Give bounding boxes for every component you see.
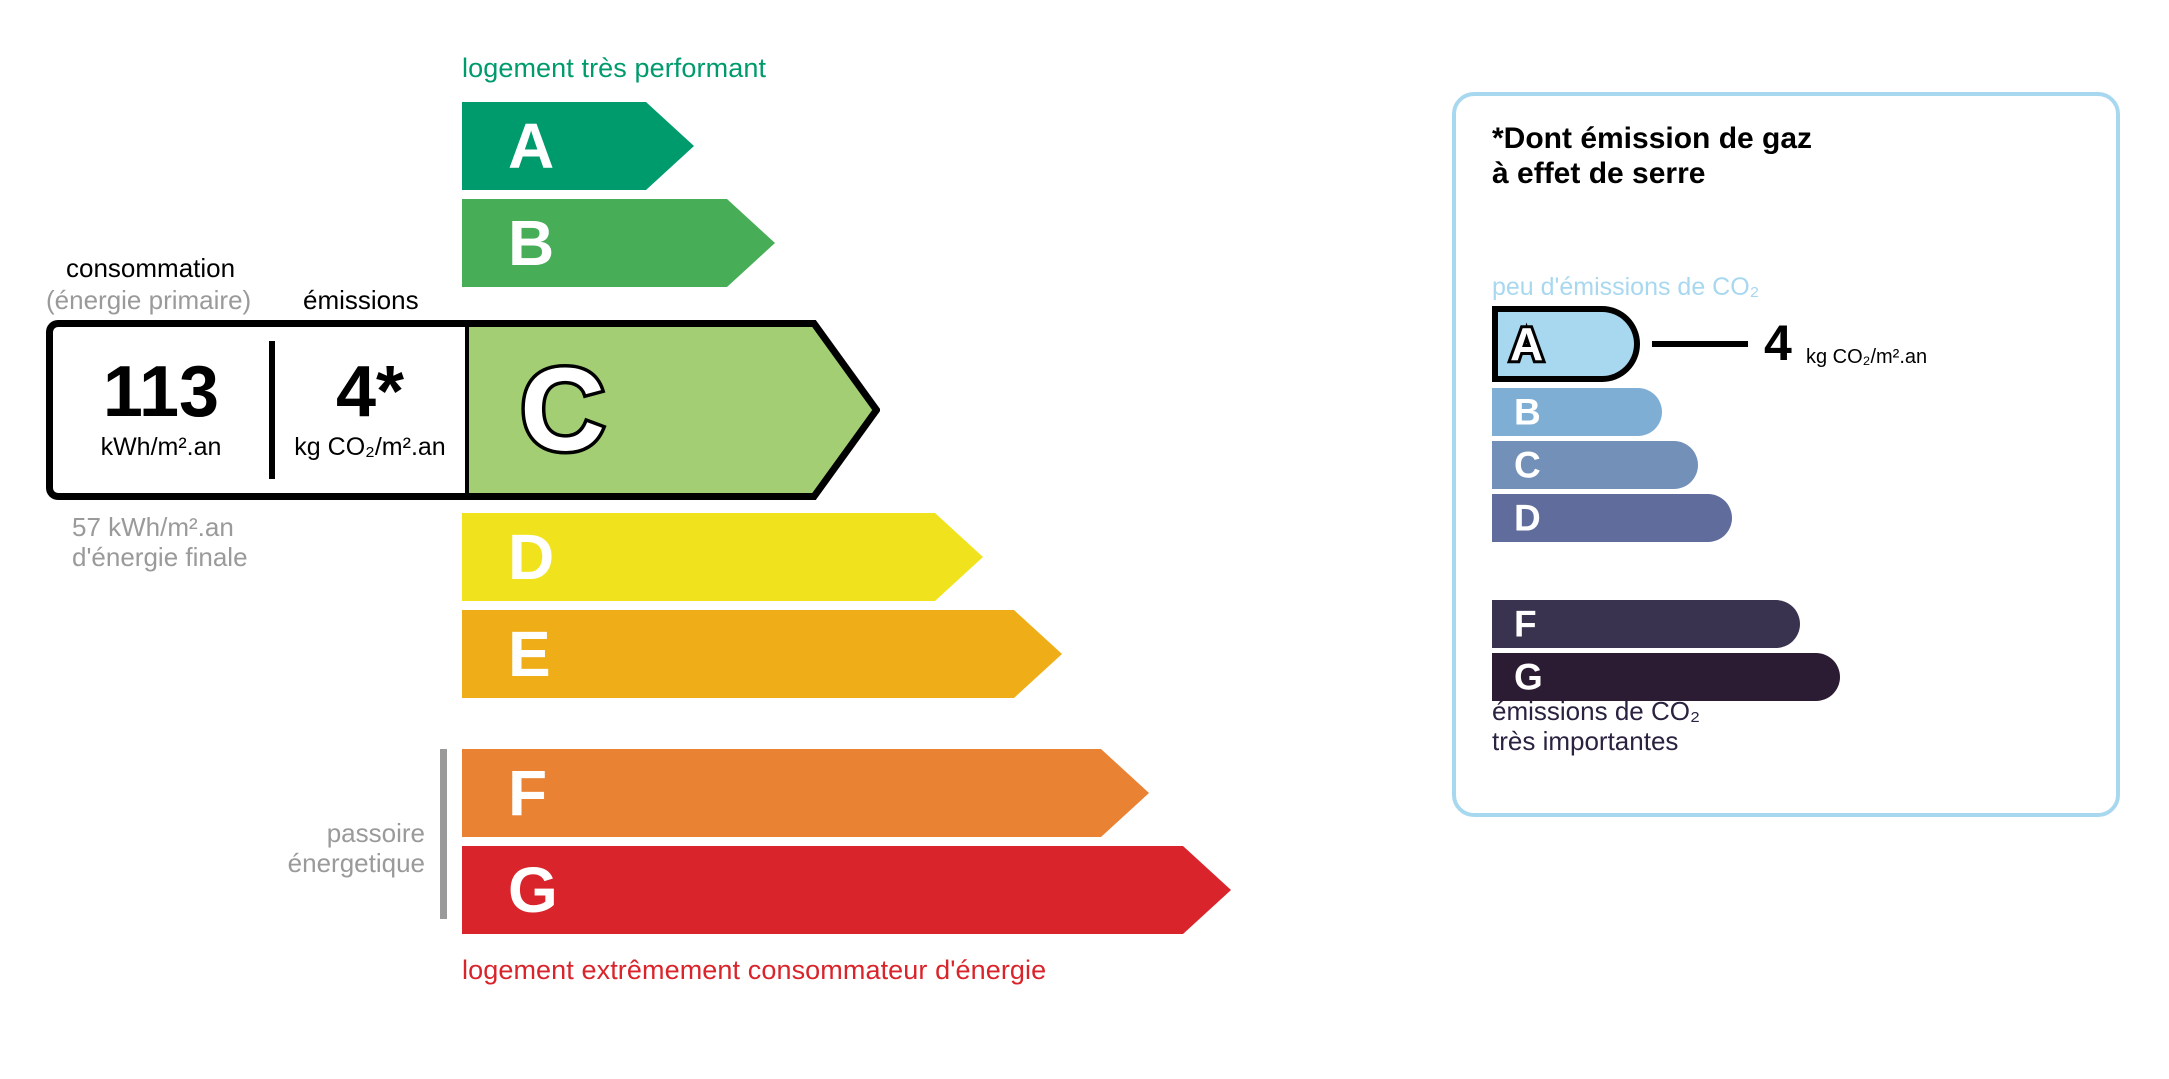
co2-bar-selected-left-cap (1492, 306, 1498, 382)
band-arrow-shape-f (462, 749, 1149, 837)
ladder-bottom-label: logement extrêmement consommateur d'éner… (462, 955, 1046, 986)
consumption-cell: 113 kWh/m².an (53, 327, 269, 493)
band-letter-a: A (508, 114, 554, 178)
co2-top-label: peu d'émissions de CO₂ (1492, 273, 1759, 302)
co2-bar-c: C (1492, 441, 1698, 489)
co2-bar-d: D (1492, 494, 1732, 542)
final-energy-note: 57 kWh/m².and'énergie finale (72, 512, 248, 572)
co2-bar-letter-e: E (1514, 553, 1539, 590)
band-letter-e: E (508, 622, 551, 686)
band-arrow-g (462, 846, 1231, 934)
dpe-infographic: logement très performant ABCDEFG logemen… (0, 0, 2169, 1079)
co2-card: *Dont émission de gazà effet de serre pe… (1452, 92, 2120, 817)
co2-card-title: *Dont émission de gazà effet de serre (1492, 121, 1812, 192)
energy-band-e: E (462, 610, 1062, 698)
passoire-label: passoireénergetique (280, 818, 425, 878)
co2-value: 4 (1764, 318, 1792, 368)
co2-connector-line (1652, 341, 1748, 347)
co2-bar-f: F (1492, 600, 1800, 648)
band-letter-f: F (508, 761, 547, 825)
energy-band-g: G (462, 846, 1231, 934)
emissions-cell: 4* kg CO₂/m².an (275, 327, 465, 493)
co2-bar-e: E (1492, 547, 1765, 595)
co2-bar-letter-f: F (1514, 606, 1537, 643)
co2-bar-letter-b: B (1514, 394, 1541, 431)
co2-bar-letter-a: A (1510, 321, 1543, 367)
energy-ladder: logement très performant ABCDEFG logemen… (0, 0, 1400, 1079)
co2-bottom-label: émissions de CO₂très importantes (1492, 696, 1700, 756)
band-letter-c: C (520, 351, 605, 469)
ladder-top-label: logement très performant (462, 53, 766, 84)
band-arrow-f (462, 749, 1149, 837)
emissions-unit: kg CO₂/m².an (294, 433, 445, 462)
band-arrow-e (462, 610, 1062, 698)
value-box: 113 kWh/m².an 4* kg CO₂/m².an (46, 320, 465, 500)
passoire-bracket (440, 749, 447, 919)
co2-bar-a: A (1492, 306, 1640, 382)
band-letter-d: D (508, 525, 554, 589)
co2-bar-letter-g: G (1514, 659, 1543, 696)
co2-bar-g: G (1492, 653, 1840, 701)
energy-band-a: A (462, 102, 694, 190)
band-letter-b: B (508, 211, 554, 275)
co2-bar-letter-d: D (1514, 500, 1541, 537)
consumption-value: 113 (103, 358, 219, 426)
consumption-unit: kWh/m².an (101, 433, 222, 462)
energy-band-f: F (462, 749, 1149, 837)
emissions-value: 4* (336, 358, 404, 426)
band-arrow-a (462, 102, 694, 190)
band-letter-g: G (508, 858, 558, 922)
energy-band-d: D (462, 513, 983, 601)
band-arrow-shape-g (462, 846, 1231, 934)
co2-value-unit: kg CO₂/m².an (1806, 346, 1927, 369)
band-arrow-shape-a (462, 102, 694, 190)
consumption-header: consommation (66, 253, 235, 284)
emissions-header: émissions (303, 285, 419, 316)
energy-band-c: C (462, 320, 880, 500)
band-arrow-shape-e (462, 610, 1062, 698)
energy-band-b: B (462, 199, 775, 287)
co2-bar-b: B (1492, 388, 1662, 436)
co2-bar-letter-c: C (1514, 447, 1541, 484)
consumption-subheader: (énergie primaire) (46, 285, 251, 316)
